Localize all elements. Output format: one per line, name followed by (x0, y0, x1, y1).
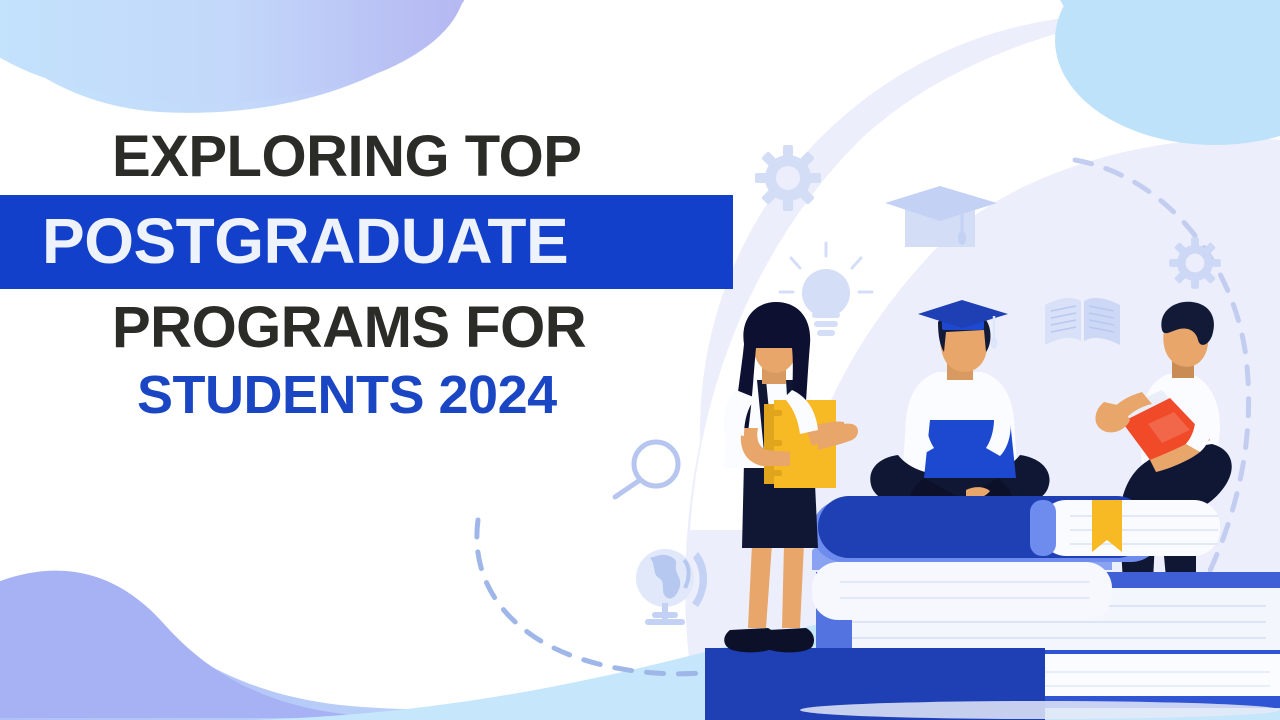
headline-line-3: PROGRAMS FOR (0, 299, 760, 357)
book-top-edge (1030, 500, 1056, 556)
headline-line-4: STUDENTS 2024 (0, 368, 760, 422)
graduate-cap-tassel (991, 337, 998, 349)
headline-line-1: EXPLORING TOP (0, 128, 760, 186)
headline-line-2: POSTGRADUATE (0, 204, 733, 278)
headline-block: EXPLORING TOP POSTGRADUATE PROGRAMS FOR … (0, 128, 760, 422)
book-top-pages (1040, 500, 1220, 556)
headline-highlight-band: POSTGRADUATE (0, 195, 733, 289)
ground-shadow (800, 701, 1280, 719)
seated-graduate-with-laptop (870, 300, 1049, 512)
banner-canvas: EXPLORING TOP POSTGRADUATE PROGRAMS FOR … (0, 0, 1280, 720)
standing-leg-left (748, 544, 772, 628)
standing-shoe-right (762, 628, 814, 652)
book-mid-pages (812, 562, 1112, 620)
standing-leg-right (782, 544, 804, 628)
